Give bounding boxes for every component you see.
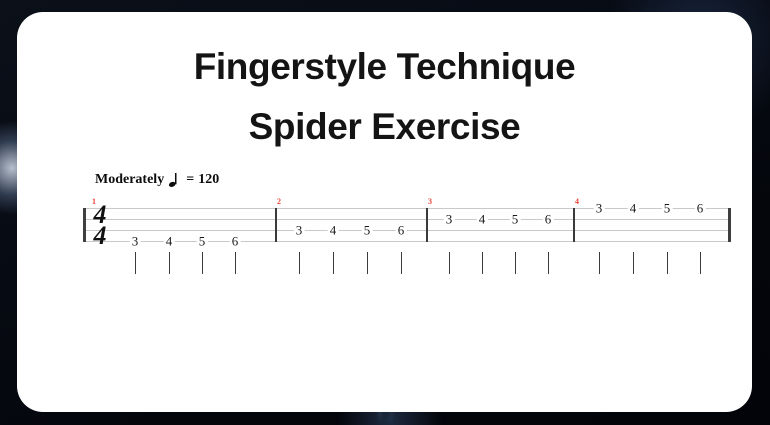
rhythm-stem [333, 252, 334, 274]
tab-fret-number: 5 [662, 202, 673, 215]
rhythm-stem [482, 252, 483, 274]
tab-fret-number: 5 [362, 224, 373, 237]
rhythm-stem [135, 252, 136, 274]
barline-measure-4 [573, 208, 575, 242]
barline-measure-3 [426, 208, 428, 242]
rhythm-stem [700, 252, 701, 274]
tab-fret-number: 3 [594, 202, 605, 215]
staff-line [83, 230, 730, 231]
rhythm-stem [367, 252, 368, 274]
page-title-line-2: Spider Exercise [17, 108, 752, 145]
measure-number: 1 [92, 198, 96, 206]
tab-fret-number: 3 [130, 235, 141, 248]
quarter-note-icon [168, 172, 182, 188]
time-signature-denominator: 4 [89, 225, 111, 246]
staff-line [83, 219, 730, 220]
measure-number: 4 [575, 198, 579, 206]
rhythm-stem [667, 252, 668, 274]
tab-fret-number: 6 [230, 235, 241, 248]
rhythm-stem [202, 252, 203, 274]
time-signature: 4 4 [89, 204, 111, 246]
rhythm-stem [449, 252, 450, 274]
rhythm-stem [169, 252, 170, 274]
guitar-tab-staff: 4 4 1 2 3 4 3 4 5 6 3 4 5 6 3 4 5 6 3 4 … [83, 194, 733, 284]
tab-fret-number: 3 [294, 224, 305, 237]
tab-fret-number: 6 [396, 224, 407, 237]
tab-fret-number: 3 [444, 213, 455, 226]
tab-fret-number: 5 [197, 235, 208, 248]
tempo-equals: = [186, 172, 194, 188]
tab-fret-number: 4 [328, 224, 339, 237]
barline-measure-2 [275, 208, 277, 242]
tab-fret-number: 4 [628, 202, 639, 215]
tab-fret-number: 6 [543, 213, 554, 226]
tempo-marking: Moderately = 120 [95, 172, 219, 188]
measure-number: 2 [277, 198, 281, 206]
rhythm-stem [548, 252, 549, 274]
rhythm-stem [235, 252, 236, 274]
barline-start [83, 208, 86, 242]
tab-fret-number: 6 [695, 202, 706, 215]
slide-card: Fingerstyle Technique Spider Exercise Mo… [17, 12, 752, 412]
rhythm-stem [401, 252, 402, 274]
rhythm-stem [633, 252, 634, 274]
tab-fret-number: 4 [477, 213, 488, 226]
page-title-line-1: Fingerstyle Technique [17, 48, 752, 85]
tempo-text: Moderately [95, 172, 164, 188]
rhythm-stem [299, 252, 300, 274]
measure-number: 3 [428, 198, 432, 206]
tab-fret-number: 4 [164, 235, 175, 248]
tab-fret-number: 5 [510, 213, 521, 226]
rhythm-stem [515, 252, 516, 274]
barline-end [728, 208, 731, 242]
staff-line [83, 241, 730, 242]
tempo-bpm: 120 [198, 172, 219, 188]
rhythm-stem [599, 252, 600, 274]
